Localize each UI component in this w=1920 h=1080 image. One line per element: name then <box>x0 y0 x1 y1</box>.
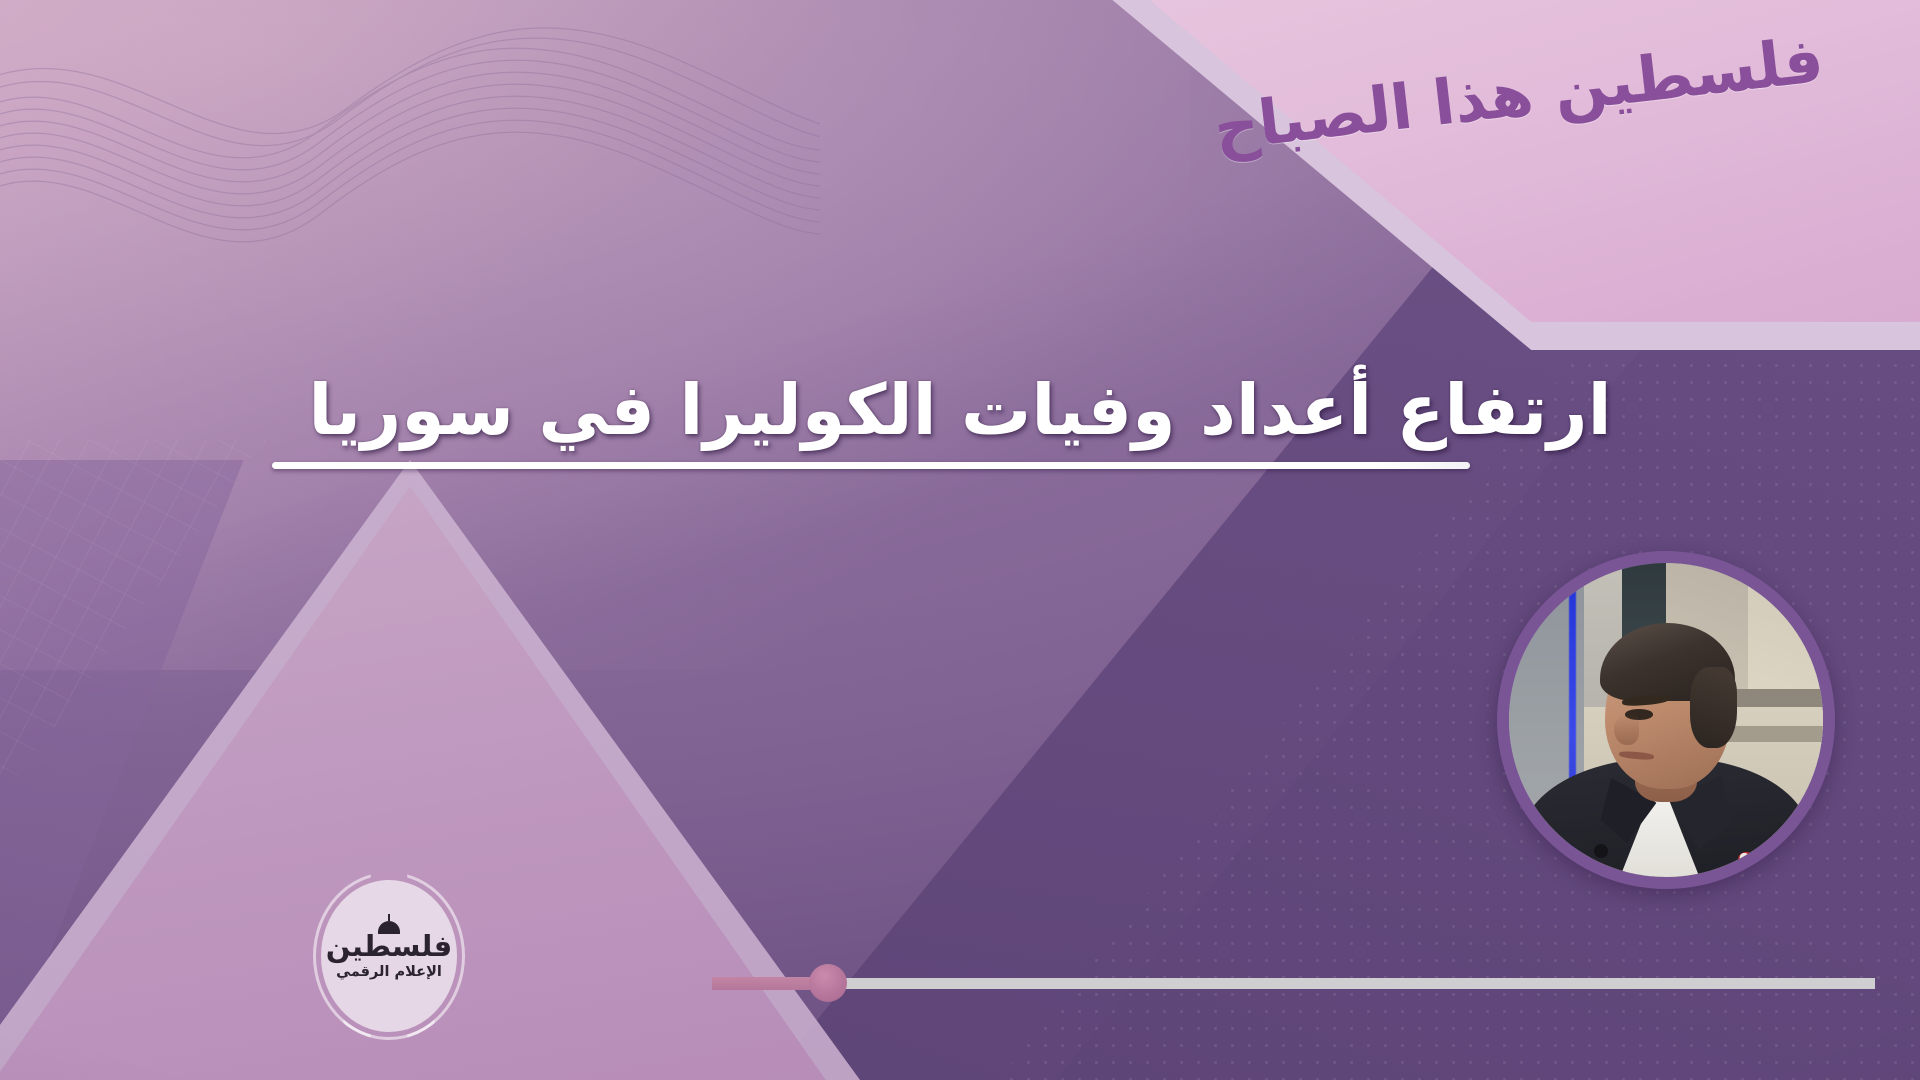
watermark-disc: فلسطين الإعلام الرقمي <box>321 880 457 1032</box>
channel-watermark: فلسطين الإعلام الرقمي <box>313 872 465 1040</box>
progress-track[interactable] <box>712 978 1875 989</box>
headline-container: ارتفاع أعداد وفيات الكوليرا في سوريا <box>0 372 1920 449</box>
broadcast-lower-third-frame: فلسطين هذا الصباح ارتفاع أعداد وفيات الك… <box>0 0 1920 1080</box>
guest-portrait-image <box>1509 563 1823 877</box>
program-banner: فلسطين هذا الصباح <box>1110 0 1920 350</box>
video-progress-bar[interactable] <box>712 975 1875 991</box>
headline-underline <box>272 462 1470 469</box>
watermark-brand: فلسطين <box>326 929 453 963</box>
watermark-brand-wrap: فلسطين <box>326 932 453 961</box>
guest-hair-side <box>1690 667 1737 749</box>
guest-lapel-pin <box>1738 852 1754 868</box>
guest-portrait <box>1497 551 1835 889</box>
guest-nose <box>1614 714 1639 745</box>
watermark-tagline: الإعلام الرقمي <box>336 965 442 980</box>
news-headline: ارتفاع أعداد وفيات الكوليرا في سوريا <box>278 372 1641 449</box>
progress-knob[interactable] <box>809 964 847 1002</box>
guest-lapel-microphone <box>1594 844 1608 858</box>
mosque-dome-icon <box>378 921 400 934</box>
